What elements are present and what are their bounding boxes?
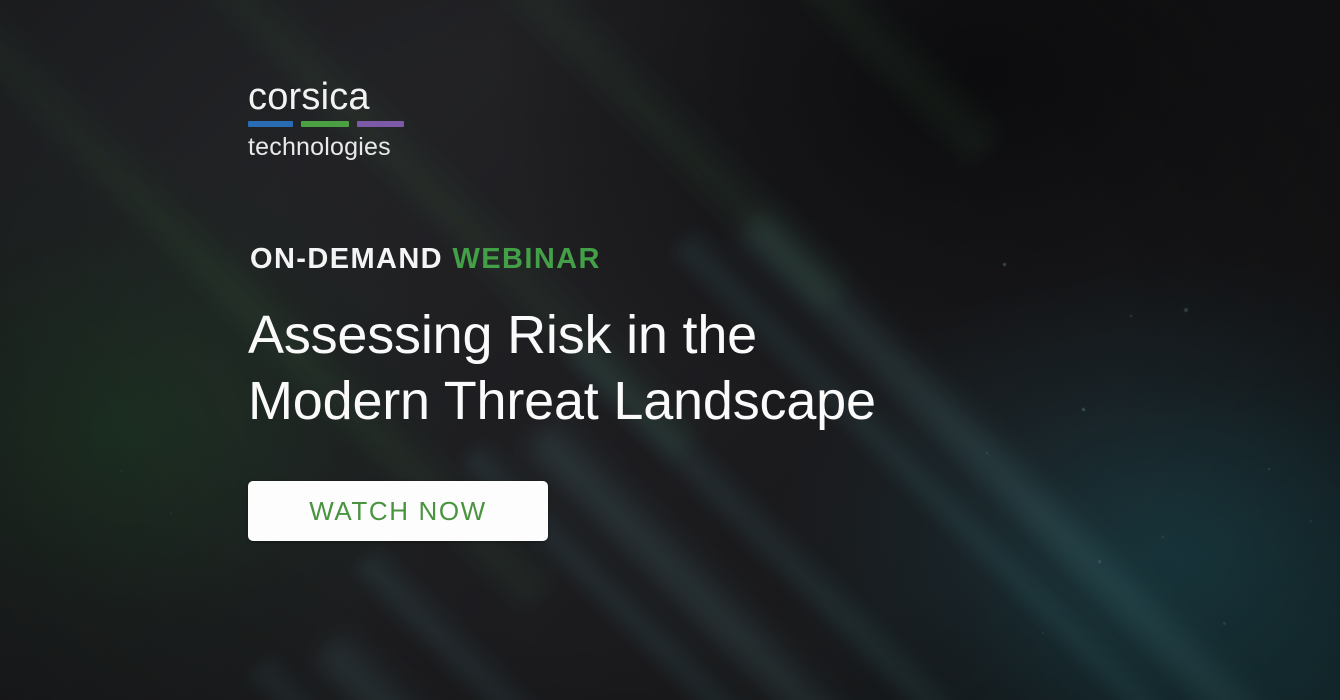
eyebrow-highlight: WEBINAR bbox=[453, 243, 601, 275]
corsica-technologies-logo[interactable]: corsica technologies bbox=[248, 76, 548, 161]
logo-blue-bar bbox=[248, 121, 293, 127]
watch-now-button[interactable]: WATCH NOW bbox=[248, 481, 548, 541]
logo-green-bar bbox=[301, 121, 348, 127]
webinar-promo-banner: corsica technologies ON-DEMAND WEBINAR A… bbox=[0, 0, 1340, 700]
headline-line-2: Modern Threat Landscape bbox=[248, 368, 1068, 434]
logo-wordmark: corsica bbox=[248, 76, 548, 118]
page-title: Assessing Risk in the Modern Threat Land… bbox=[248, 302, 1068, 434]
headline-line-1: Assessing Risk in the bbox=[248, 302, 1068, 368]
eyebrow-label: ON-DEMAND WEBINAR bbox=[250, 243, 601, 276]
logo-subtitle: technologies bbox=[248, 133, 548, 161]
eyebrow-prefix: ON-DEMAND bbox=[250, 243, 443, 275]
banner-content: corsica technologies ON-DEMAND WEBINAR A… bbox=[248, 0, 1288, 700]
logo-color-bars bbox=[248, 121, 404, 127]
logo-purple-bar bbox=[357, 121, 404, 127]
